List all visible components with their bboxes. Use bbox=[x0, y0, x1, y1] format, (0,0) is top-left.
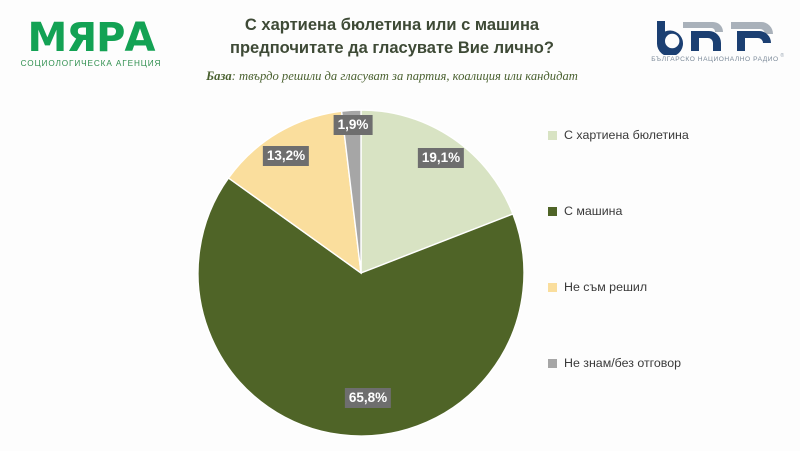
legend-item-paper-ballot[interactable]: С хартиена бюлетина bbox=[548, 124, 689, 146]
pie-slice-label: 13,2% bbox=[263, 146, 309, 166]
legend-item-undecided[interactable]: Не съм решил bbox=[548, 276, 647, 298]
pie-slice-label: 65,8% bbox=[345, 388, 391, 408]
myara-wordmark: МЯРА bbox=[16, 18, 166, 58]
title-block: С хартиена бюлетина или с машина предпоч… bbox=[168, 14, 616, 84]
bnr-logo-icon bbox=[645, 17, 785, 55]
legend-item-label: Не знам/без отговор bbox=[564, 356, 681, 370]
pie-chart: 19,1% 65,8% 13,2% 1,9% bbox=[196, 108, 526, 438]
legend-swatch-icon bbox=[548, 283, 557, 292]
base-note: База: твърдо решили да гласуват за парти… bbox=[168, 69, 616, 84]
legend-swatch-icon bbox=[548, 359, 557, 368]
base-note-text: твърдо решили да гласуват за партия, коа… bbox=[239, 69, 578, 83]
legend-item-no-answer[interactable]: Не знам/без отговор bbox=[548, 352, 681, 374]
page-title-line-1: С хартиена бюлетина или с машина bbox=[168, 14, 616, 37]
legend-item-label: С машина bbox=[564, 204, 622, 218]
slide-canvas: МЯРА СОЦИОЛОГИЧЕСКА АГЕНЦИЯ С хартиена б… bbox=[0, 0, 800, 451]
bnr-logo: ® БЪЛГАРСКО НАЦИОНАЛНО РАДИО bbox=[645, 17, 785, 72]
bnr-wordmark-mark: ® bbox=[645, 17, 785, 55]
legend-swatch-icon bbox=[548, 207, 557, 216]
page-title-line-2: предпочитате да гласувате Вие лично? bbox=[168, 37, 616, 60]
pie-slice-label: 1,9% bbox=[334, 115, 373, 135]
legend-item-label: С хартиена бюлетина bbox=[564, 128, 689, 142]
base-note-separator: : bbox=[232, 69, 239, 83]
myara-tagline: СОЦИОЛОГИЧЕСКА АГЕНЦИЯ bbox=[16, 59, 166, 68]
page-title: С хартиена бюлетина или с машина предпоч… bbox=[168, 14, 616, 60]
legend-swatch-icon bbox=[548, 131, 557, 140]
legend-item-label: Не съм решил bbox=[564, 280, 647, 294]
base-note-label: База bbox=[206, 69, 232, 83]
legend-item-machine[interactable]: С машина bbox=[548, 200, 622, 222]
bnr-tagline: БЪЛГАРСКО НАЦИОНАЛНО РАДИО bbox=[645, 56, 785, 63]
pie-slice-label: 19,1% bbox=[418, 148, 464, 168]
registered-mark: ® bbox=[780, 53, 784, 59]
myara-logo: МЯРА СОЦИОЛОГИЧЕСКА АГЕНЦИЯ bbox=[16, 18, 166, 76]
